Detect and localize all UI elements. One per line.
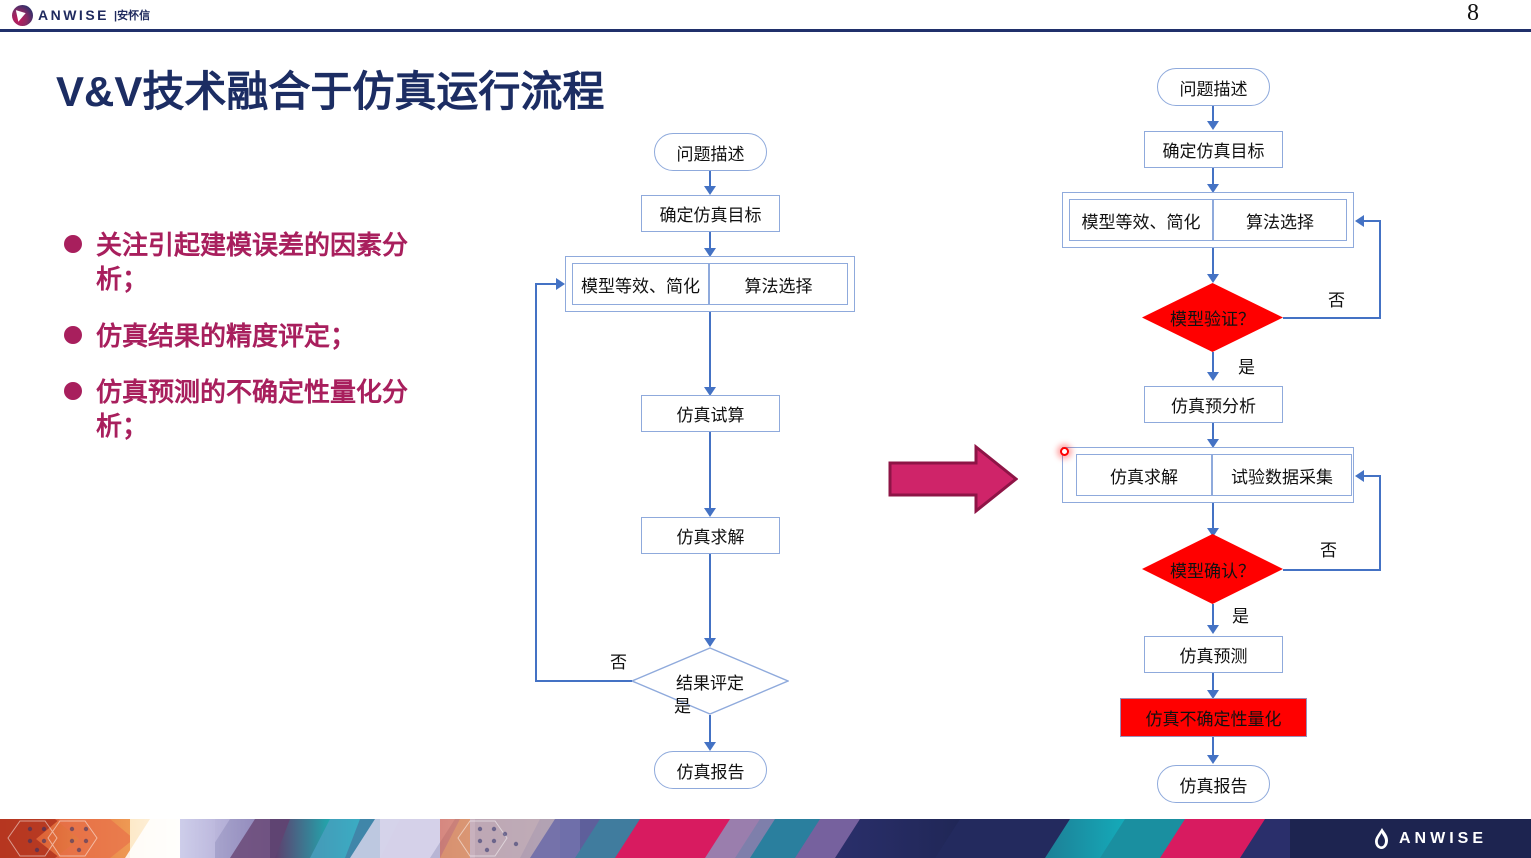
footer-brand-logo: ANWISE xyxy=(1373,827,1487,850)
connector xyxy=(1212,673,1214,691)
node-algorithm-selection: 算法选择 xyxy=(1213,199,1347,241)
arrow-left-icon xyxy=(1355,215,1364,227)
right-flowchart: 问题描述 确定仿真目标 模型等效、简化 算法选择 模型验证？ 否 是 仿真预分析… xyxy=(0,0,1450,830)
node-model-equivalence: 模型等效、简化 xyxy=(1069,199,1213,241)
connector xyxy=(1364,475,1380,477)
connector xyxy=(1379,475,1381,570)
arrow-down-icon xyxy=(1207,121,1219,130)
node-decision-label: 模型验证？ xyxy=(1142,283,1283,352)
page-number: 8 xyxy=(1467,0,1479,27)
edge-label-yes: 是 xyxy=(1238,353,1255,378)
arrow-down-icon xyxy=(1207,274,1219,283)
node-start: 问题描述 xyxy=(1157,68,1270,106)
node-uncertainty-quantification: 仿真不确定性量化 xyxy=(1120,698,1307,737)
arrow-left-icon xyxy=(1355,470,1364,482)
node-pre-analysis: 仿真预分析 xyxy=(1144,386,1283,423)
connector xyxy=(1283,569,1381,571)
connector xyxy=(1212,168,1214,185)
connector xyxy=(1212,737,1214,756)
connector xyxy=(1212,106,1214,122)
node-decision-label: 模型确认？ xyxy=(1142,534,1283,604)
red-dot-marker xyxy=(1060,447,1069,456)
node-predict: 仿真预测 xyxy=(1144,636,1283,673)
edge-label-no: 否 xyxy=(1328,286,1345,311)
footer-brand-name: ANWISE xyxy=(1399,830,1487,848)
node-decision-validation: 模型确认？ xyxy=(1142,534,1283,604)
node-experiment-data: 试验数据采集 xyxy=(1212,454,1352,496)
edge-label-no: 否 xyxy=(1320,536,1337,561)
connector xyxy=(1212,352,1214,373)
connector xyxy=(1379,220,1381,318)
slide-footer: ANWISE xyxy=(0,819,1531,858)
footer-decorative-band xyxy=(0,819,1531,858)
node-decision-verification: 模型验证？ xyxy=(1142,283,1283,352)
connector xyxy=(1212,604,1214,626)
connector xyxy=(1212,248,1214,275)
connector xyxy=(1212,423,1214,440)
edge-label-yes: 是 xyxy=(1232,602,1249,627)
anwise-flame-icon xyxy=(1373,827,1390,850)
connector xyxy=(1364,220,1380,222)
arrow-down-icon xyxy=(1207,755,1219,764)
connector xyxy=(1283,317,1381,319)
node-report: 仿真报告 xyxy=(1157,765,1270,803)
connector xyxy=(1212,503,1214,529)
arrow-down-icon xyxy=(1207,372,1219,381)
arrow-down-icon xyxy=(1207,625,1219,634)
node-goal: 确定仿真目标 xyxy=(1144,131,1283,168)
node-simulation-solve: 仿真求解 xyxy=(1076,454,1212,496)
